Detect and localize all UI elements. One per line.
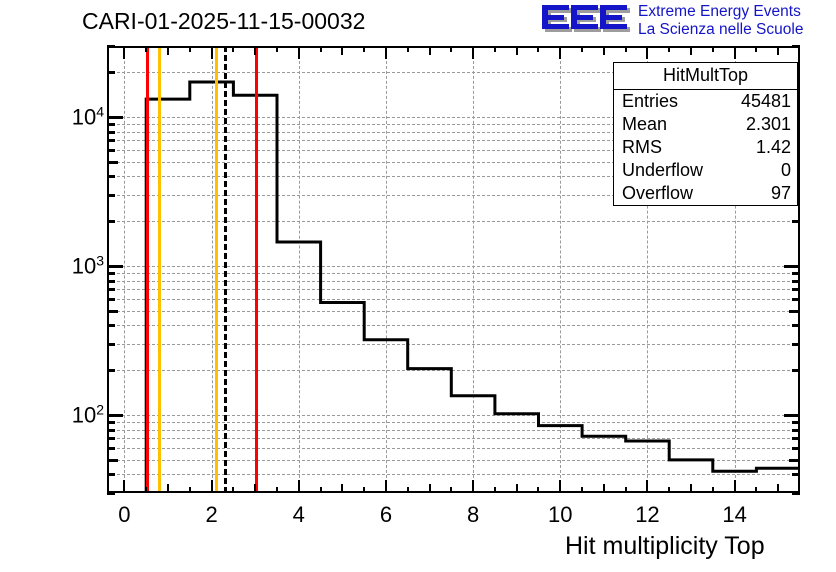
x-axis-tick-top bbox=[123, 46, 125, 59]
x-axis-tick bbox=[320, 487, 322, 493]
x-axis-tick-top bbox=[690, 46, 692, 55]
x-axis-tick-top bbox=[363, 46, 365, 52]
y-axis-tick-right bbox=[784, 265, 800, 268]
x-axis-tick bbox=[494, 487, 496, 493]
x-axis-tick-top bbox=[211, 46, 213, 59]
x-axis-label: 14 bbox=[722, 502, 746, 528]
y-axis-tick bbox=[107, 45, 115, 48]
stats-row: Overflow97 bbox=[614, 182, 797, 205]
y-axis-tick-right bbox=[789, 459, 800, 462]
x-axis-tick-top bbox=[734, 46, 736, 59]
y-axis-tick bbox=[107, 324, 115, 327]
y-axis-tick bbox=[107, 280, 115, 283]
y-axis-tick bbox=[107, 298, 115, 301]
x-axis-tick-top bbox=[385, 46, 387, 59]
x-axis-tick bbox=[232, 487, 234, 493]
x-axis-tick bbox=[276, 487, 278, 493]
stats-value: 1.42 bbox=[756, 137, 791, 158]
x-axis-tick bbox=[385, 480, 387, 493]
x-axis-tick bbox=[559, 480, 561, 493]
page-title: CARI-01-2025-11-15-00032 bbox=[82, 8, 365, 35]
x-axis-tick-top bbox=[407, 46, 409, 52]
x-axis-tick bbox=[211, 480, 213, 493]
y-axis-tick bbox=[107, 123, 115, 126]
x-axis-tick-top bbox=[276, 46, 278, 52]
y-axis-tick-right bbox=[792, 280, 800, 283]
x-axis-tick bbox=[254, 484, 256, 493]
y-axis-label: 103 bbox=[49, 252, 104, 279]
x-axis-tick bbox=[581, 487, 583, 493]
x-axis-tick-top bbox=[167, 46, 169, 55]
y-axis-tick bbox=[107, 194, 115, 197]
stats-key: Entries bbox=[622, 91, 678, 112]
x-axis-tick-top bbox=[254, 46, 256, 55]
y-axis-tick-right bbox=[792, 437, 800, 440]
y-axis-tick bbox=[107, 139, 115, 142]
y-axis-tick bbox=[107, 175, 115, 178]
x-axis-tick bbox=[734, 480, 736, 493]
x-axis-title: Hit multiplicity Top bbox=[565, 532, 765, 561]
y-axis-tick bbox=[107, 459, 118, 462]
y-axis-tick-right bbox=[792, 272, 800, 275]
x-axis-tick bbox=[712, 487, 714, 493]
x-axis-tick-top bbox=[712, 46, 714, 52]
x-axis-tick-top bbox=[646, 46, 648, 59]
x-axis-tick-top bbox=[777, 46, 779, 55]
y-axis-tick bbox=[107, 131, 115, 134]
y-axis-tick bbox=[107, 310, 118, 313]
x-axis-tick-top bbox=[232, 46, 234, 52]
root-canvas: CARI-01-2025-11-15-00032 bbox=[0, 0, 836, 572]
stats-key: Overflow bbox=[622, 183, 693, 204]
eee-logo-line1: Extreme Energy Events bbox=[638, 3, 803, 21]
x-axis-tick-top bbox=[494, 46, 496, 52]
stats-key: RMS bbox=[622, 137, 662, 158]
x-axis-tick-top bbox=[429, 46, 431, 55]
stats-key: Underflow bbox=[622, 160, 703, 181]
y-axis-tick-right bbox=[792, 45, 800, 48]
stats-title: HitMultTop bbox=[614, 63, 797, 90]
x-axis-tick-top bbox=[189, 46, 191, 52]
stats-row: Underflow0 bbox=[614, 159, 797, 182]
x-axis-tick bbox=[625, 487, 627, 493]
x-axis-tick bbox=[298, 480, 300, 493]
x-axis-tick-top bbox=[472, 46, 474, 59]
x-axis-tick-top bbox=[145, 46, 147, 52]
y-axis-tick-right bbox=[792, 343, 800, 346]
stats-value: 0 bbox=[781, 160, 791, 181]
y-axis-tick bbox=[107, 71, 115, 74]
x-axis-tick-top bbox=[320, 46, 322, 52]
x-axis-tick bbox=[189, 487, 191, 493]
y-axis-tick bbox=[107, 421, 115, 424]
y-axis-tick-right bbox=[792, 298, 800, 301]
x-axis-tick bbox=[777, 484, 779, 493]
y-axis-tick-right bbox=[792, 429, 800, 432]
x-axis-tick bbox=[450, 487, 452, 493]
x-axis-tick bbox=[472, 480, 474, 493]
y-axis-tick-right bbox=[792, 421, 800, 424]
stats-row: Mean2.301 bbox=[614, 113, 797, 136]
stats-value: 45481 bbox=[741, 91, 791, 112]
y-axis-tick bbox=[107, 437, 115, 440]
x-axis-tick bbox=[646, 480, 648, 493]
y-axis-tick bbox=[107, 414, 123, 417]
y-axis-tick bbox=[107, 116, 123, 119]
y-axis-tick bbox=[107, 288, 115, 291]
y-axis-tick-right bbox=[789, 310, 800, 313]
stats-row: RMS1.42 bbox=[614, 136, 797, 159]
y-axis-tick-right bbox=[792, 447, 800, 450]
eee-logo-mark bbox=[540, 4, 632, 38]
x-axis-label: 0 bbox=[118, 502, 130, 528]
y-axis-label: 102 bbox=[49, 401, 104, 428]
y-axis-tick bbox=[107, 447, 115, 450]
y-axis-tick-right bbox=[792, 369, 800, 372]
x-axis-tick-top bbox=[559, 46, 561, 59]
x-axis-tick bbox=[537, 487, 539, 493]
x-axis-tick bbox=[668, 487, 670, 493]
x-axis-tick-top bbox=[298, 46, 300, 59]
y-axis-tick bbox=[107, 272, 115, 275]
x-axis-tick bbox=[407, 487, 409, 493]
eee-logo: Extreme Energy Events La Scienza nelle S… bbox=[540, 2, 836, 42]
y-axis-tick-right bbox=[792, 220, 800, 223]
x-axis-tick bbox=[603, 484, 605, 493]
y-axis-tick-right bbox=[792, 473, 800, 476]
x-axis-tick bbox=[123, 480, 125, 493]
y-axis-tick bbox=[107, 149, 115, 152]
y-axis-tick-right bbox=[792, 492, 800, 495]
x-axis-tick-top bbox=[625, 46, 627, 52]
y-axis-tick-right bbox=[792, 324, 800, 327]
y-axis-label: 104 bbox=[49, 103, 104, 130]
x-axis-tick bbox=[145, 487, 147, 493]
x-axis-label: 2 bbox=[205, 502, 217, 528]
stats-row: Entries45481 bbox=[614, 90, 797, 113]
eee-logo-icon bbox=[540, 4, 632, 38]
x-axis-tick bbox=[690, 484, 692, 493]
x-axis-label: 4 bbox=[293, 502, 305, 528]
x-axis-label: 12 bbox=[635, 502, 659, 528]
stats-box[interactable]: HitMultTop Entries45481Mean2.301RMS1.42U… bbox=[613, 62, 798, 206]
stats-key: Mean bbox=[622, 114, 667, 135]
x-axis-tick-top bbox=[603, 46, 605, 55]
stats-rows: Entries45481Mean2.301RMS1.42Underflow0Ov… bbox=[614, 90, 797, 205]
eee-logo-line2: La Scienza nelle Scuole bbox=[638, 21, 803, 39]
y-axis-tick-right bbox=[792, 288, 800, 291]
x-axis-label: 10 bbox=[548, 502, 572, 528]
x-axis-tick bbox=[341, 484, 343, 493]
y-axis-tick bbox=[107, 161, 118, 164]
x-axis-tick-top bbox=[668, 46, 670, 52]
y-axis-tick bbox=[107, 343, 115, 346]
y-axis-tick bbox=[107, 369, 115, 372]
eee-logo-text: Extreme Energy Events La Scienza nelle S… bbox=[638, 3, 803, 39]
x-axis-tick bbox=[516, 484, 518, 493]
stats-value: 2.301 bbox=[746, 114, 791, 135]
x-axis-label: 8 bbox=[467, 502, 479, 528]
x-axis-tick bbox=[363, 487, 365, 493]
y-axis-tick bbox=[107, 265, 123, 268]
x-axis-tick-top bbox=[450, 46, 452, 52]
x-axis-tick-top bbox=[537, 46, 539, 52]
x-axis-label: 6 bbox=[380, 502, 392, 528]
stats-value: 97 bbox=[771, 183, 791, 204]
x-axis-tick bbox=[755, 487, 757, 493]
x-axis-tick-top bbox=[755, 46, 757, 52]
y-axis-tick bbox=[107, 220, 115, 223]
y-axis-tick bbox=[107, 429, 115, 432]
y-axis-tick bbox=[107, 473, 115, 476]
y-axis-tick bbox=[107, 492, 115, 495]
x-axis-tick-top bbox=[341, 46, 343, 55]
x-axis-tick bbox=[429, 484, 431, 493]
x-axis-tick-top bbox=[516, 46, 518, 55]
y-axis-tick-right bbox=[784, 414, 800, 417]
x-axis-tick bbox=[167, 484, 169, 493]
x-axis-tick-top bbox=[581, 46, 583, 52]
